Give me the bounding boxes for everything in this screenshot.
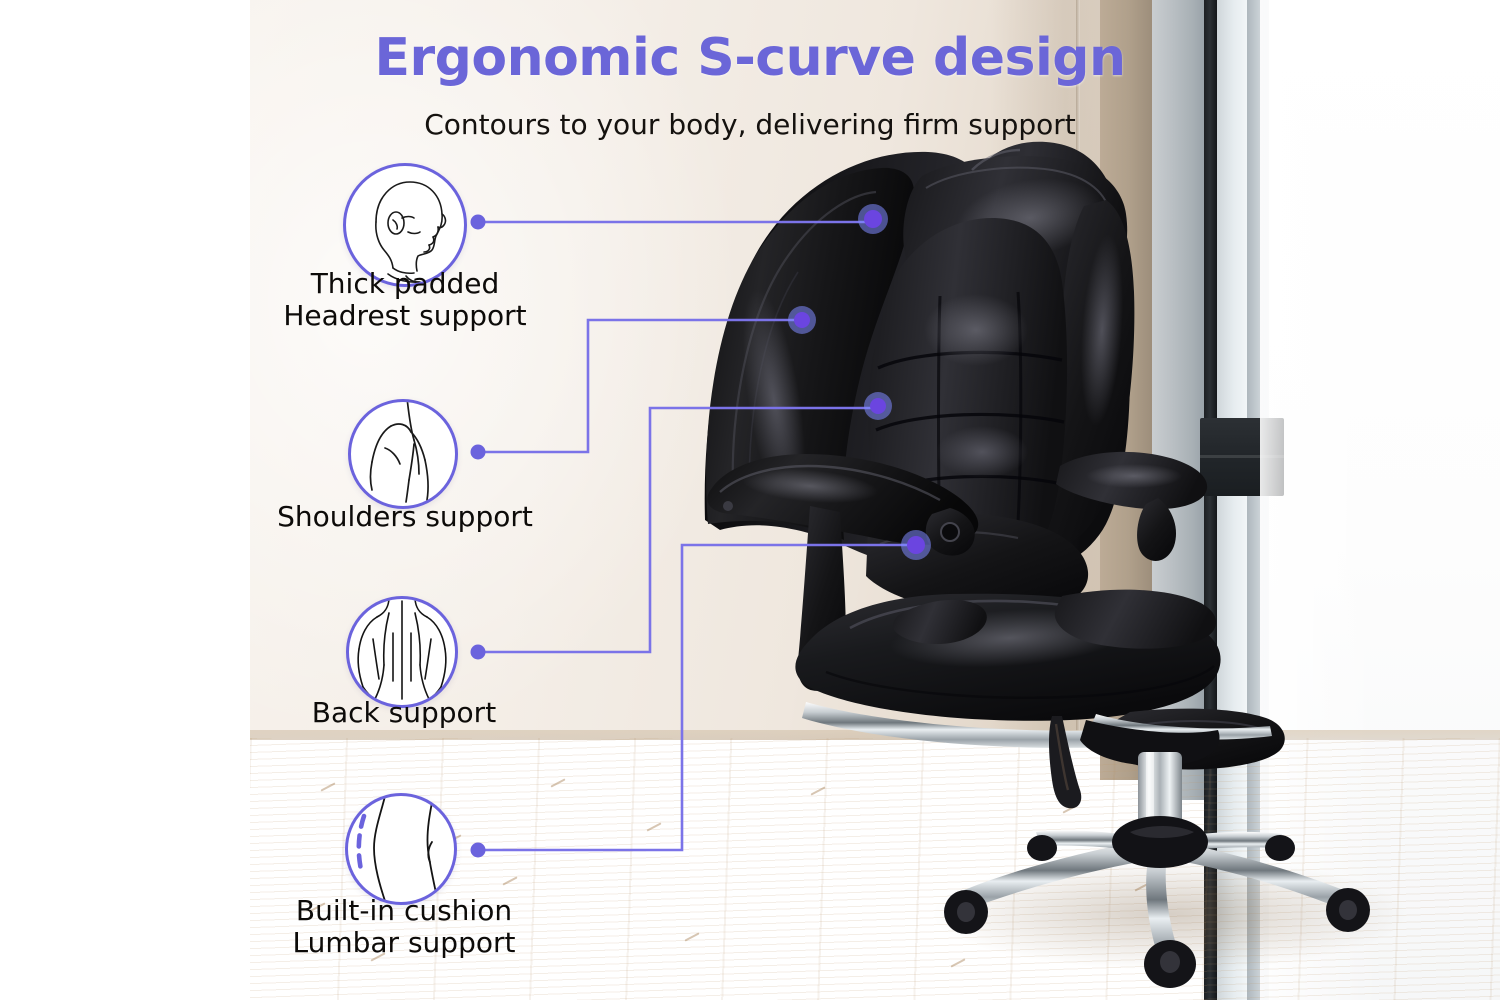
caster-right-rear	[1265, 835, 1295, 861]
caster-left-rear	[1027, 835, 1057, 861]
armrest-highlight-right	[1086, 464, 1182, 488]
armrest-bolt-left	[723, 501, 733, 511]
armrest-pivot-bolt-left	[941, 523, 959, 541]
caster-front-hub	[1160, 951, 1180, 973]
backrest-highlight-mid	[936, 426, 1028, 478]
base-hub-cap	[1112, 816, 1208, 868]
caster-right-hub	[1339, 900, 1357, 920]
product-photograph	[250, 0, 1500, 1000]
office-chair	[250, 0, 1500, 1000]
backrest-highlight-top	[924, 294, 1028, 366]
infographic-canvas: Ergonomic S-curve design Contours to you…	[0, 0, 1500, 1000]
caster-left-hub	[957, 902, 975, 922]
tilt-lever	[1049, 716, 1081, 808]
